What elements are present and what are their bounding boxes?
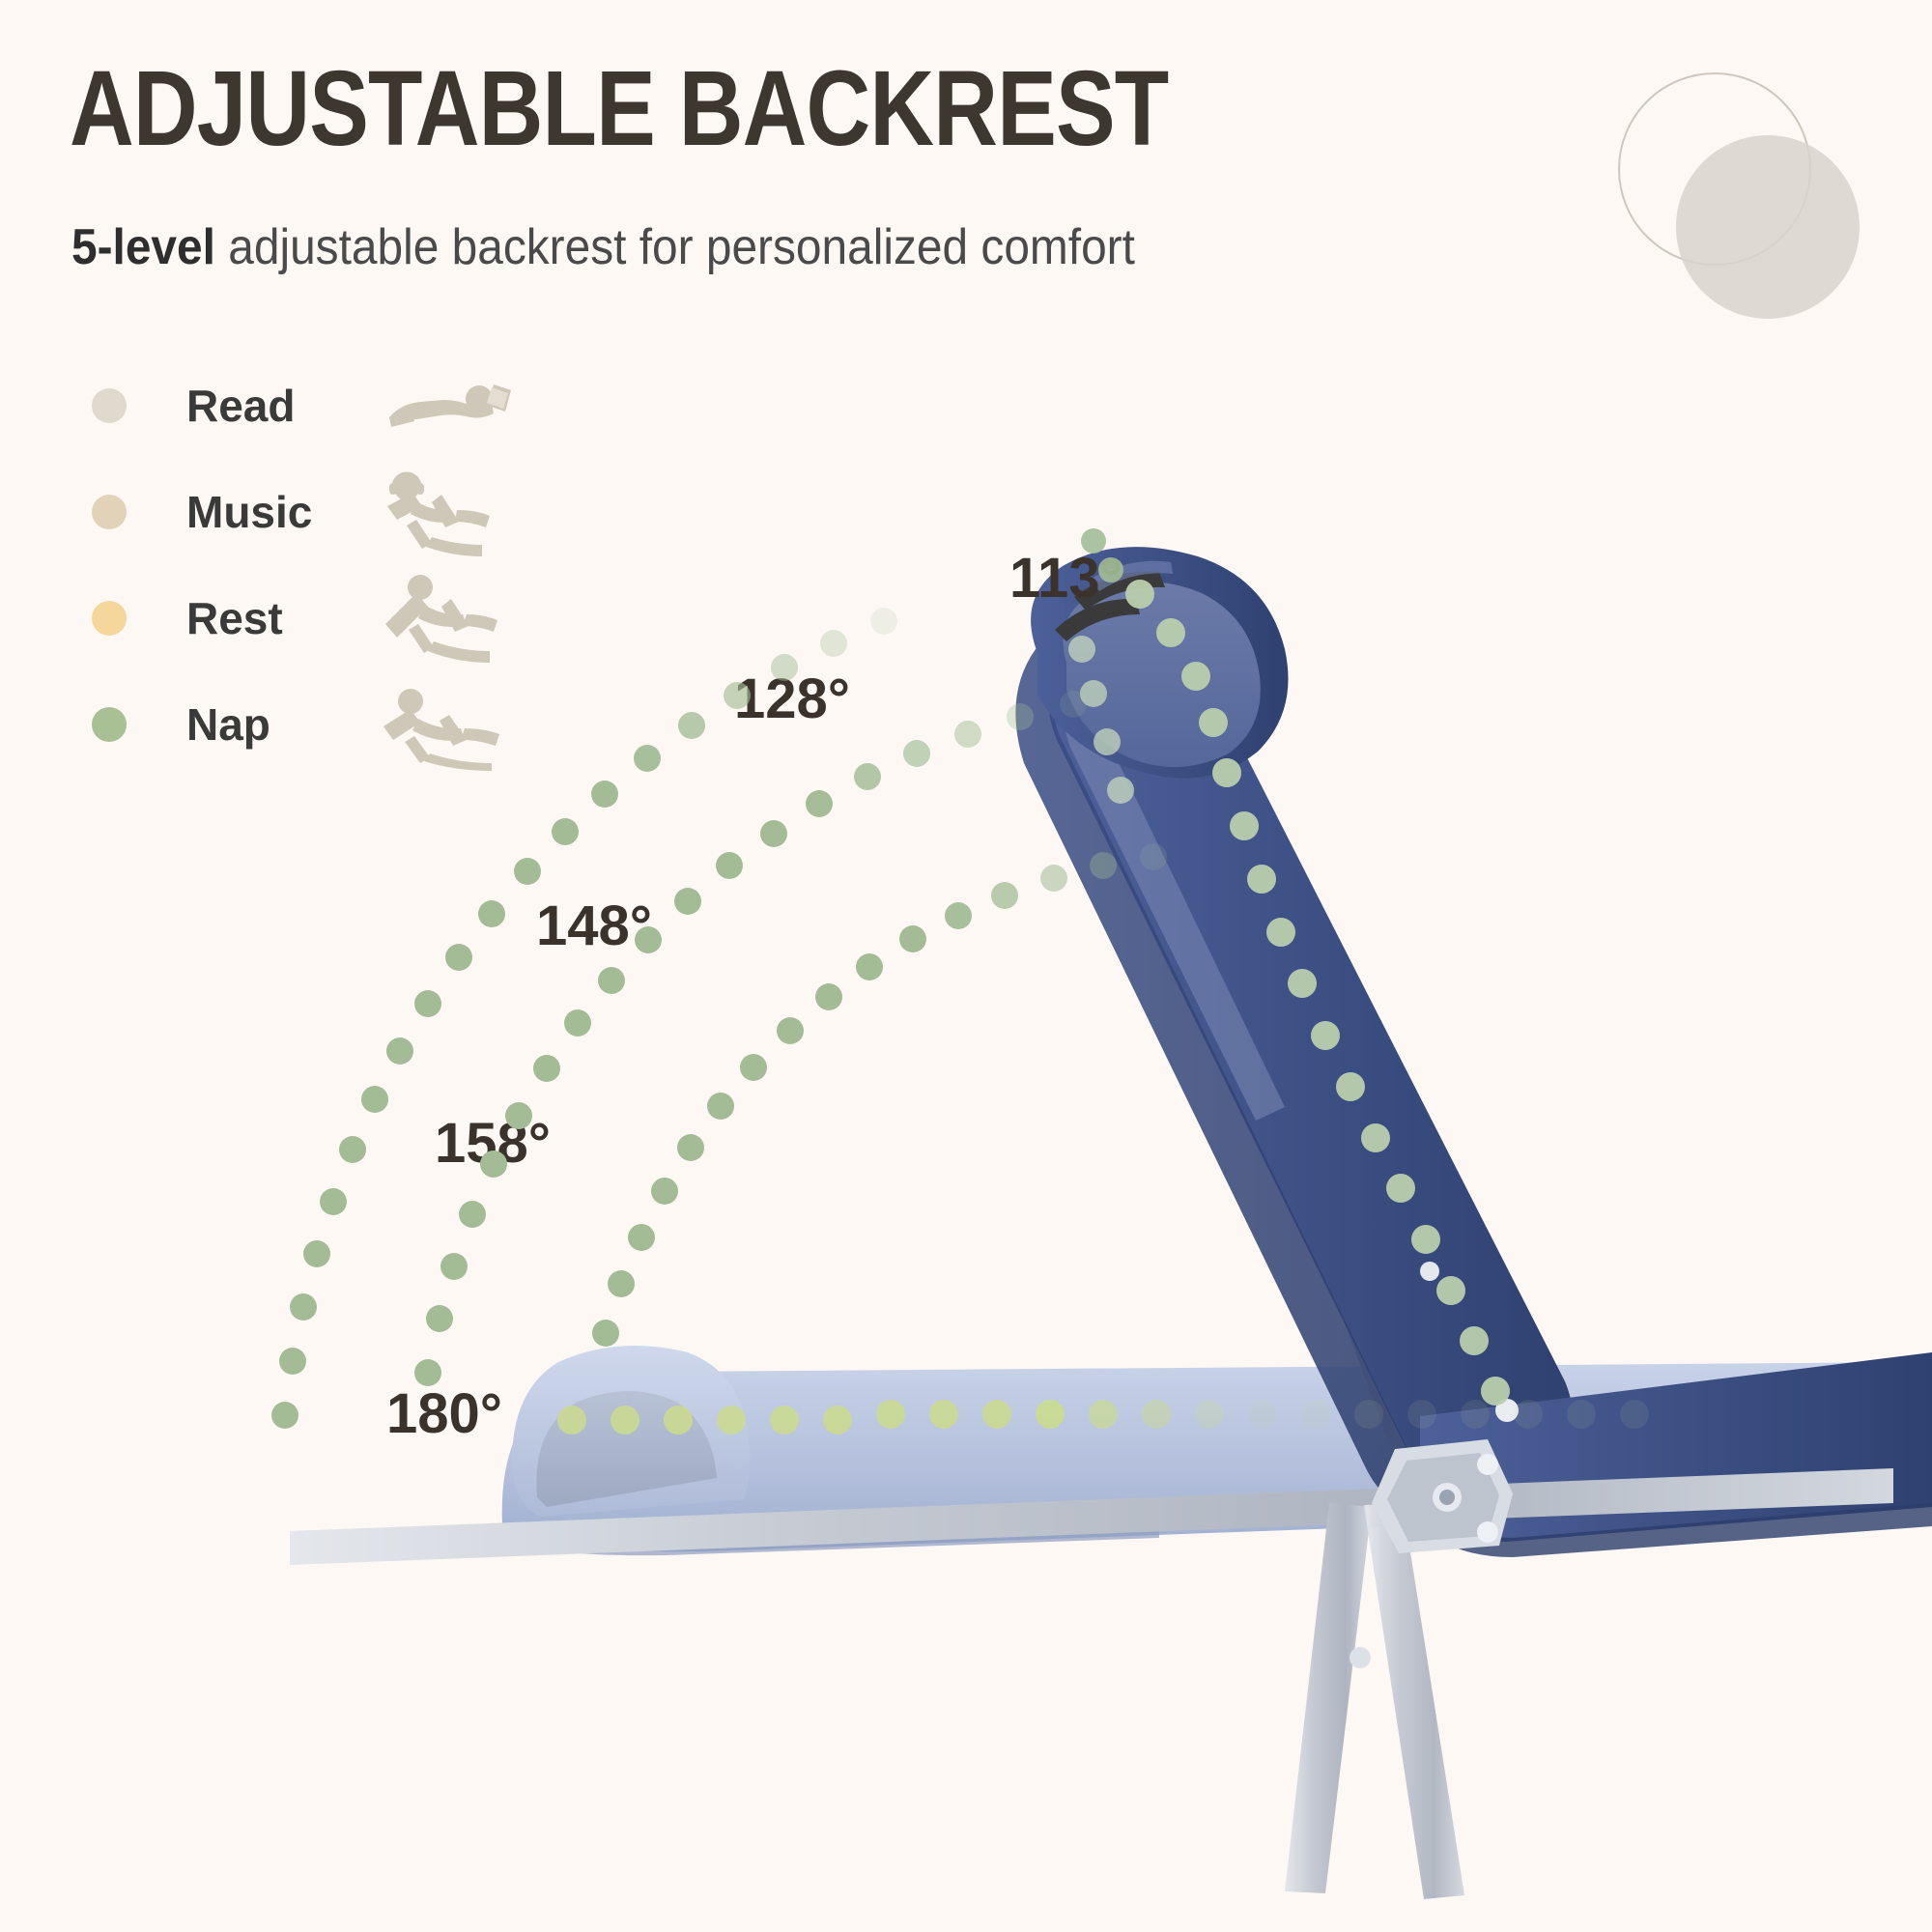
legend-dot-nap — [92, 707, 127, 742]
arc-dot-158 — [724, 682, 751, 709]
legend-item-music: Music — [92, 459, 546, 565]
legend-label-nap: Nap — [186, 698, 360, 751]
person-reading-flat-icon — [382, 357, 517, 454]
arc-dot-180 — [1142, 1400, 1171, 1429]
arc-dot-128 — [945, 902, 972, 929]
arc-dot-180 — [557, 1406, 586, 1435]
arc-dot-148 — [635, 926, 662, 953]
arc-dot-128 — [991, 882, 1018, 909]
arc-dot-113 — [1336, 1072, 1365, 1101]
arc-dot-180 — [1036, 1400, 1065, 1429]
arc-dot-148 — [598, 967, 625, 994]
arc-dot-128 — [1107, 777, 1134, 804]
arc-dot-113 — [1386, 1174, 1415, 1203]
arc-dot-158 — [386, 1037, 413, 1065]
arc-dot-128 — [628, 1224, 655, 1251]
arc-dot-158 — [870, 608, 897, 635]
arc-dot-148 — [954, 721, 981, 748]
lounge-chair-photo — [0, 0, 1932, 1932]
arc-dot-158 — [279, 1348, 306, 1375]
arc-dot-180 — [1195, 1400, 1224, 1429]
arc-dot-158 — [271, 1402, 298, 1429]
arc-dot-158 — [478, 900, 505, 927]
legend-item-rest: Rest — [92, 565, 546, 671]
angle-label-180: 180° — [386, 1381, 502, 1446]
arc-dot-113 — [1156, 618, 1185, 647]
arc-dot-148 — [716, 852, 743, 879]
legend-label-read: Read — [186, 380, 360, 432]
arc-dot-113 — [1481, 1377, 1510, 1406]
arc-dot-128 — [1080, 680, 1107, 707]
legend-item-nap: Nap — [92, 671, 546, 778]
page-title: ADJUSTABLE BACKREST — [70, 56, 1168, 162]
legend-label-music: Music — [186, 486, 360, 538]
arc-dot-128 — [815, 983, 842, 1010]
arc-dot-128 — [740, 1054, 767, 1081]
arc-dot-113 — [1436, 1276, 1465, 1305]
arc-dot-113 — [1247, 865, 1276, 894]
arc-dot-128 — [651, 1178, 678, 1205]
arc-dot-113 — [1266, 918, 1295, 947]
arc-dot-180 — [876, 1400, 905, 1429]
arc-dot-113 — [1199, 708, 1228, 737]
arc-dot-148 — [459, 1201, 486, 1228]
arc-dot-180 — [1301, 1400, 1330, 1429]
arc-dot-180 — [1407, 1400, 1436, 1429]
arc-dot-128 — [677, 1134, 704, 1161]
arc-dot-180 — [717, 1406, 746, 1435]
arc-dot-148 — [806, 790, 833, 817]
flat-seat-180 — [502, 1346, 1922, 1555]
arc-dot-158 — [591, 781, 618, 808]
arc-dot-180 — [1514, 1400, 1543, 1429]
arc-dot-180 — [1089, 1400, 1118, 1429]
arc-dot-180 — [823, 1406, 852, 1435]
arc-dot-113 — [1181, 662, 1210, 691]
arc-dot-180 — [770, 1406, 799, 1435]
arc-dot-180 — [1461, 1400, 1490, 1429]
arc-dot-128 — [1140, 843, 1167, 870]
arc-dot-158 — [445, 944, 472, 971]
arc-dot-148 — [440, 1253, 468, 1280]
arc-dot-180 — [611, 1406, 639, 1435]
legend-dot-read — [92, 388, 127, 423]
arc-dot-148 — [903, 740, 930, 767]
legend-dot-music — [92, 495, 127, 529]
arc-dot-158 — [820, 630, 847, 657]
arc-dot-128 — [899, 925, 926, 952]
arc-dot-128 — [1090, 852, 1117, 879]
arc-dot-113 — [1212, 758, 1241, 787]
arc-dot-158 — [361, 1086, 388, 1113]
arc-dot-128 — [1040, 865, 1067, 892]
arc-dot-158 — [320, 1188, 347, 1215]
arc-dot-180 — [1248, 1400, 1277, 1429]
arc-dot-113 — [1081, 528, 1106, 554]
arc-dot-180 — [982, 1400, 1011, 1429]
arc-dot-113 — [1125, 580, 1154, 609]
arc-dot-158 — [290, 1293, 317, 1321]
infographic-canvas: ADJUSTABLE BACKREST 5-level adjustable b… — [0, 0, 1932, 1932]
arc-dot-158 — [339, 1136, 366, 1163]
page-subtitle: 5-level adjustable backrest for personal… — [71, 222, 1135, 272]
legend-label-rest: Rest — [186, 592, 360, 644]
pivot-bracket — [1372, 1439, 1513, 1553]
person-napping-icon — [382, 676, 517, 773]
arc-dot-113 — [1411, 1225, 1440, 1254]
arc-dot-128 — [856, 953, 883, 980]
arc-dot-128 — [1068, 636, 1095, 663]
legend-list: Read Music — [92, 353, 546, 778]
arc-dot-180 — [1620, 1400, 1649, 1429]
arc-dot-148 — [426, 1305, 453, 1332]
angle-label-148: 148° — [536, 894, 652, 958]
arc-dot-158 — [678, 712, 705, 739]
arc-dot-180 — [929, 1400, 958, 1429]
arc-dot-148 — [533, 1055, 560, 1082]
arc-dot-148 — [674, 888, 701, 915]
arc-dot-180 — [1567, 1400, 1596, 1429]
arc-dot-113 — [1311, 1021, 1340, 1050]
arc-dot-148 — [564, 1009, 591, 1037]
arc-dot-113 — [1460, 1326, 1489, 1355]
arc-dot-158 — [514, 858, 541, 885]
arc-dot-128 — [608, 1270, 635, 1297]
arc-dot-148 — [505, 1102, 532, 1129]
arc-dot-148 — [414, 1359, 441, 1386]
arc-dot-148 — [1007, 703, 1034, 730]
arc-dot-113 — [1361, 1123, 1390, 1152]
arc-dot-148 — [760, 820, 787, 847]
arc-dot-128 — [707, 1093, 734, 1120]
arc-dot-180 — [1354, 1400, 1383, 1429]
arc-dot-158 — [303, 1240, 330, 1267]
arc-dot-158 — [634, 745, 661, 772]
subtitle-rest: adjustable backrest for personalized com… — [215, 219, 1135, 275]
legend-dot-rest — [92, 601, 127, 636]
subtitle-lead: 5-level — [71, 219, 215, 275]
decorative-circle-filled-icon — [1676, 135, 1860, 319]
arc-dot-158 — [552, 818, 579, 845]
person-headphones-reclined-icon — [382, 464, 517, 560]
arc-dot-113 — [1288, 969, 1317, 998]
arc-dot-128 — [592, 1320, 619, 1347]
chair-frame — [290, 881, 1893, 1899]
person-resting-icon — [382, 570, 517, 667]
arc-dot-128 — [777, 1017, 804, 1044]
arc-dot-113 — [1230, 811, 1259, 840]
legend-item-read: Read — [92, 353, 546, 459]
arc-dot-180 — [664, 1406, 693, 1435]
arc-dot-128 — [1094, 728, 1121, 755]
arc-dot-148 — [854, 763, 881, 790]
arc-dot-113 — [1098, 557, 1123, 582]
arc-dot-158 — [414, 990, 441, 1017]
